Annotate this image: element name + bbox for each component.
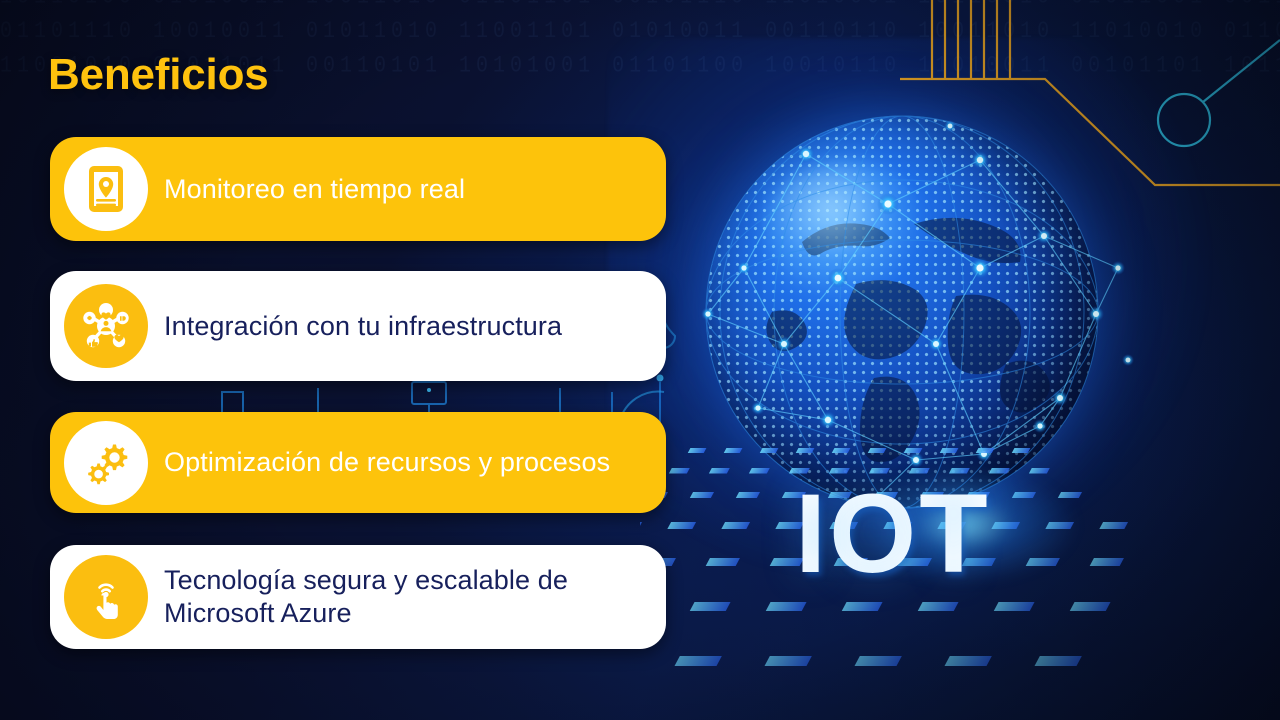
benefit-label: Tecnología segura y escalable de Microso… (164, 564, 648, 630)
gears-icon (64, 421, 148, 505)
benefit-label: Optimización de recursos y procesos (164, 446, 610, 479)
benefit-label: Integración con tu infraestructura (164, 310, 562, 343)
benefit-card-monitoreo[interactable]: Monitoreo en tiempo real (50, 137, 666, 241)
network-nodes-icon (64, 284, 148, 368)
slide-root: 01001100 11010010 01101001 00110101 1100… (0, 0, 1280, 720)
page-title: Beneficios (48, 50, 269, 100)
benefit-label: Monitoreo en tiempo real (164, 173, 465, 206)
benefits-list: Monitoreo en tiempo real (50, 137, 666, 649)
iot-wordmark: IOT (795, 478, 991, 590)
benefit-card-optimizacion[interactable]: Optimización de recursos y procesos (50, 412, 666, 513)
benefit-card-integracion[interactable]: Integración con tu infraestructura (50, 271, 666, 381)
tap-hand-icon (64, 555, 148, 639)
benefit-card-tecnologia[interactable]: Tecnología segura y escalable de Microso… (50, 545, 666, 649)
smartphone-location-icon (64, 147, 148, 231)
